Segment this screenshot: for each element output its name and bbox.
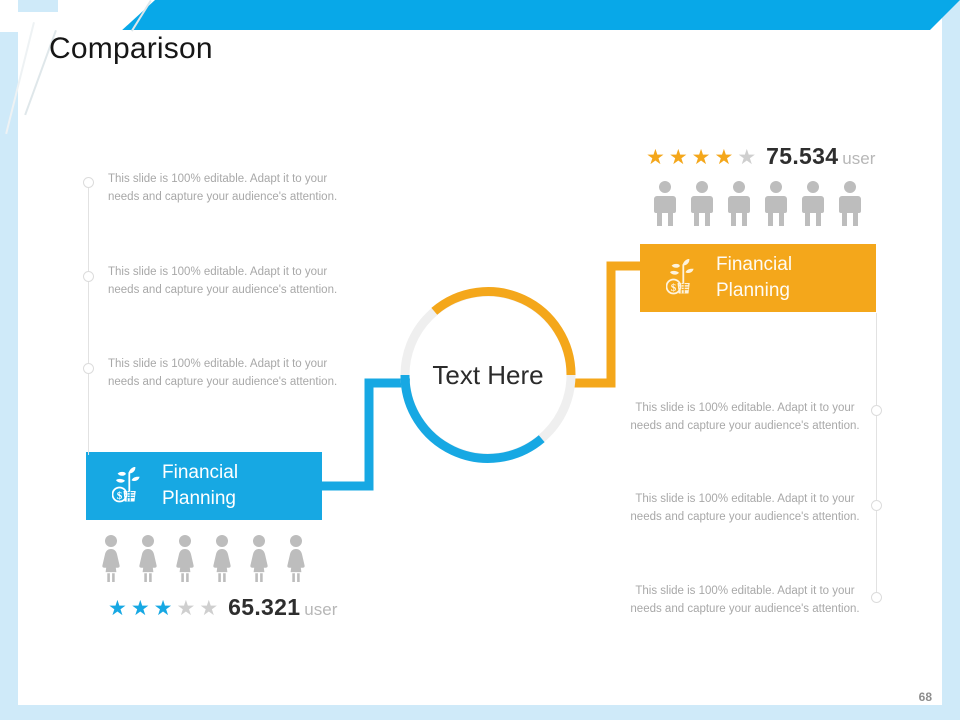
star-filled-icon: ★ (714, 147, 733, 168)
left-box-label-line2: Planning (162, 488, 236, 509)
page-title: Comparison (49, 32, 213, 66)
star-empty-icon: ★ (737, 147, 756, 168)
star-empty-icon: ★ (199, 598, 218, 619)
male-person-icon (800, 180, 826, 228)
right-people-group (652, 180, 863, 228)
star-filled-icon: ★ (154, 598, 173, 619)
right-item-text-1: This slide is 100% editable. Adapt it to… (625, 400, 865, 436)
right-item-text-2: This slide is 100% editable. Adapt it to… (625, 491, 865, 527)
female-person-icon (246, 534, 272, 582)
right-box-label: Financial Planning (716, 252, 792, 304)
svg-text:$: $ (117, 490, 123, 502)
star-filled-icon: ★ (108, 598, 127, 619)
male-person-icon (837, 180, 863, 228)
right-axis-dot (871, 592, 882, 603)
right-star-rating: ★ ★ ★ ★ ★ (646, 147, 756, 168)
female-person-icon (135, 534, 161, 582)
right-rating-unit: user (842, 149, 875, 169)
right-financial-planning-box[interactable]: $ Financial Planning (640, 244, 876, 312)
center-label: Text Here (393, 280, 583, 470)
left-item-text-1: This slide is 100% editable. Adapt it to… (108, 171, 338, 207)
right-item-text-3: This slide is 100% editable. Adapt it to… (625, 583, 865, 619)
star-filled-icon: ★ (646, 147, 665, 168)
left-rating-unit: user (304, 600, 337, 620)
left-financial-planning-box[interactable]: $ Financial Planning (86, 452, 322, 520)
right-axis-dot (871, 405, 882, 416)
right-box-label-line2: Planning (716, 280, 790, 301)
female-person-icon (98, 534, 124, 582)
money-plant-icon: $ (666, 257, 702, 300)
right-axis-line (876, 313, 877, 603)
left-box-label-line1: Financial (162, 462, 238, 483)
male-person-icon (726, 180, 752, 228)
female-person-icon (172, 534, 198, 582)
right-rating: ★ ★ ★ ★ ★ 75.534 user (646, 143, 875, 170)
star-filled-icon: ★ (692, 147, 711, 168)
left-item-text-2: This slide is 100% editable. Adapt it to… (108, 264, 338, 300)
right-box-label-line1: Financial (716, 254, 792, 275)
left-axis-dot (83, 177, 94, 188)
left-axis-dot (83, 363, 94, 374)
banner-notch-edge (18, 0, 58, 12)
center-donut: Text Here (393, 280, 583, 470)
star-filled-icon: ★ (669, 147, 688, 168)
left-people-group (98, 534, 309, 582)
left-rating-value: 65.321 (228, 594, 300, 621)
female-person-icon (209, 534, 235, 582)
left-box-label: Financial Planning (162, 460, 238, 512)
slide-root: Comparison Text Here ★ ★ ★ ★ ★ 75.534 us… (0, 0, 960, 720)
left-star-rating: ★ ★ ★ ★ ★ (108, 598, 218, 619)
page-number: 68 (919, 690, 932, 704)
left-axis-line (88, 183, 89, 455)
star-filled-icon: ★ (131, 598, 150, 619)
svg-text:$: $ (671, 282, 677, 294)
male-person-icon (689, 180, 715, 228)
left-item-text-3: This slide is 100% editable. Adapt it to… (108, 356, 338, 392)
right-axis-dot (871, 500, 882, 511)
money-plant-icon: $ (112, 465, 148, 508)
male-person-icon (652, 180, 678, 228)
female-person-icon (283, 534, 309, 582)
star-empty-icon: ★ (176, 598, 195, 619)
male-person-icon (763, 180, 789, 228)
top-banner (30, 0, 960, 30)
right-rating-value: 75.534 (766, 143, 838, 170)
left-axis-dot (83, 271, 94, 282)
left-rating: ★ ★ ★ ★ ★ 65.321 user (108, 594, 337, 621)
